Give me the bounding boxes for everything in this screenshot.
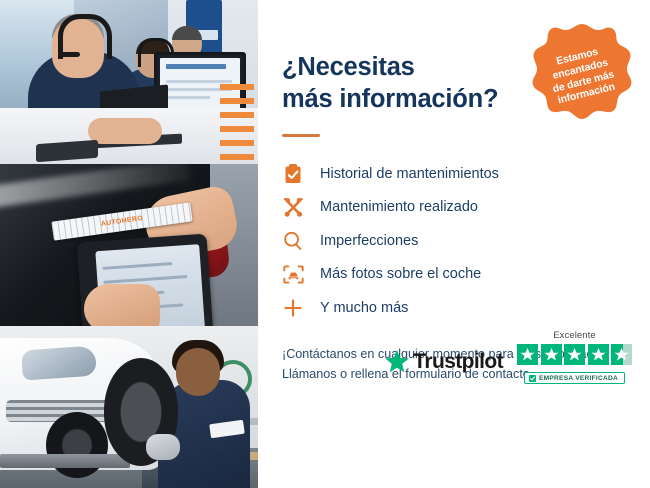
- rear-wheel: [46, 412, 108, 478]
- tools-cross-icon: [282, 196, 304, 218]
- page-title: ¿Necesitas más información?: [282, 52, 512, 115]
- list-item: Historial de mantenimientos: [282, 157, 626, 191]
- car-lift-arm: [0, 454, 130, 468]
- starburst-shape: [528, 22, 636, 130]
- trustpilot-wordmark: Trustpilot: [413, 350, 503, 374]
- headset-mic: [60, 52, 80, 57]
- photo-column: AUTOHERO: [0, 0, 258, 488]
- list-item-label: Historial de mantenimientos: [320, 167, 499, 182]
- promo-badge: Estamos encantados de darte más informac…: [528, 22, 636, 130]
- clipboard-check-icon: [282, 163, 304, 185]
- list-item: Imperfecciones: [282, 224, 626, 258]
- list-item-label: Más fotos sobre el coche: [320, 267, 481, 282]
- orange-rack: [220, 84, 254, 164]
- list-item: Y mucho más: [282, 291, 626, 325]
- foreground-agent-arm: [88, 118, 162, 144]
- star-filled: [588, 344, 609, 365]
- title-divider: [282, 134, 320, 137]
- headline-line-2: más información?: [282, 85, 498, 113]
- list-item: Más fotos sobre el coche: [282, 258, 626, 292]
- star-rating: [517, 344, 632, 365]
- star-partial: [611, 344, 632, 365]
- inspector-hand-holding-tablet: [84, 284, 160, 326]
- tablet-row: [103, 275, 187, 284]
- content-panel: ¿Necesitas más información? Historial de…: [258, 0, 650, 488]
- mechanic-wheel-photo: [0, 326, 258, 488]
- list-item-label: Y mucho más: [320, 301, 408, 316]
- trustpilot-star-icon: [384, 349, 410, 374]
- rating-label: Excelente: [553, 330, 596, 341]
- magnifier-icon: [282, 230, 304, 252]
- star-filled: [564, 344, 585, 365]
- check-box-icon: [529, 375, 536, 382]
- monitor-row: [166, 96, 210, 99]
- star-filled: [541, 344, 562, 365]
- trustpilot-widget[interactable]: Trustpilot Excelente: [282, 330, 632, 384]
- star-filled: [517, 344, 538, 365]
- trustpilot-logo[interactable]: Trustpilot: [384, 349, 503, 384]
- list-item-label: Mantenimiento realizado: [320, 200, 478, 215]
- car-inspection-ruler-photo: AUTOHERO: [0, 164, 258, 326]
- verified-label: EMPRESA VERIFICADA: [539, 375, 618, 382]
- promo-card: AUTOHERO: [0, 0, 650, 488]
- feature-list: Historial de mantenimientos M: [282, 157, 626, 325]
- plus-icon: [282, 297, 304, 319]
- call-center-agents-photo: [0, 0, 258, 164]
- monitor-row: [166, 80, 232, 83]
- list-item-label: Imperfecciones: [320, 234, 418, 249]
- headlight: [21, 345, 97, 380]
- car-scan-icon: [282, 263, 304, 285]
- verified-badge: EMPRESA VERIFICADA: [524, 372, 625, 384]
- mechanic-head: [176, 348, 220, 396]
- tablet-row: [102, 262, 172, 270]
- headline-line-1: ¿Necesitas: [282, 53, 415, 81]
- mechanic-glove: [146, 434, 180, 460]
- trustpilot-rating: Excelente: [517, 330, 632, 384]
- monitor-toolbar: [166, 64, 226, 69]
- list-item: Mantenimiento realizado: [282, 191, 626, 225]
